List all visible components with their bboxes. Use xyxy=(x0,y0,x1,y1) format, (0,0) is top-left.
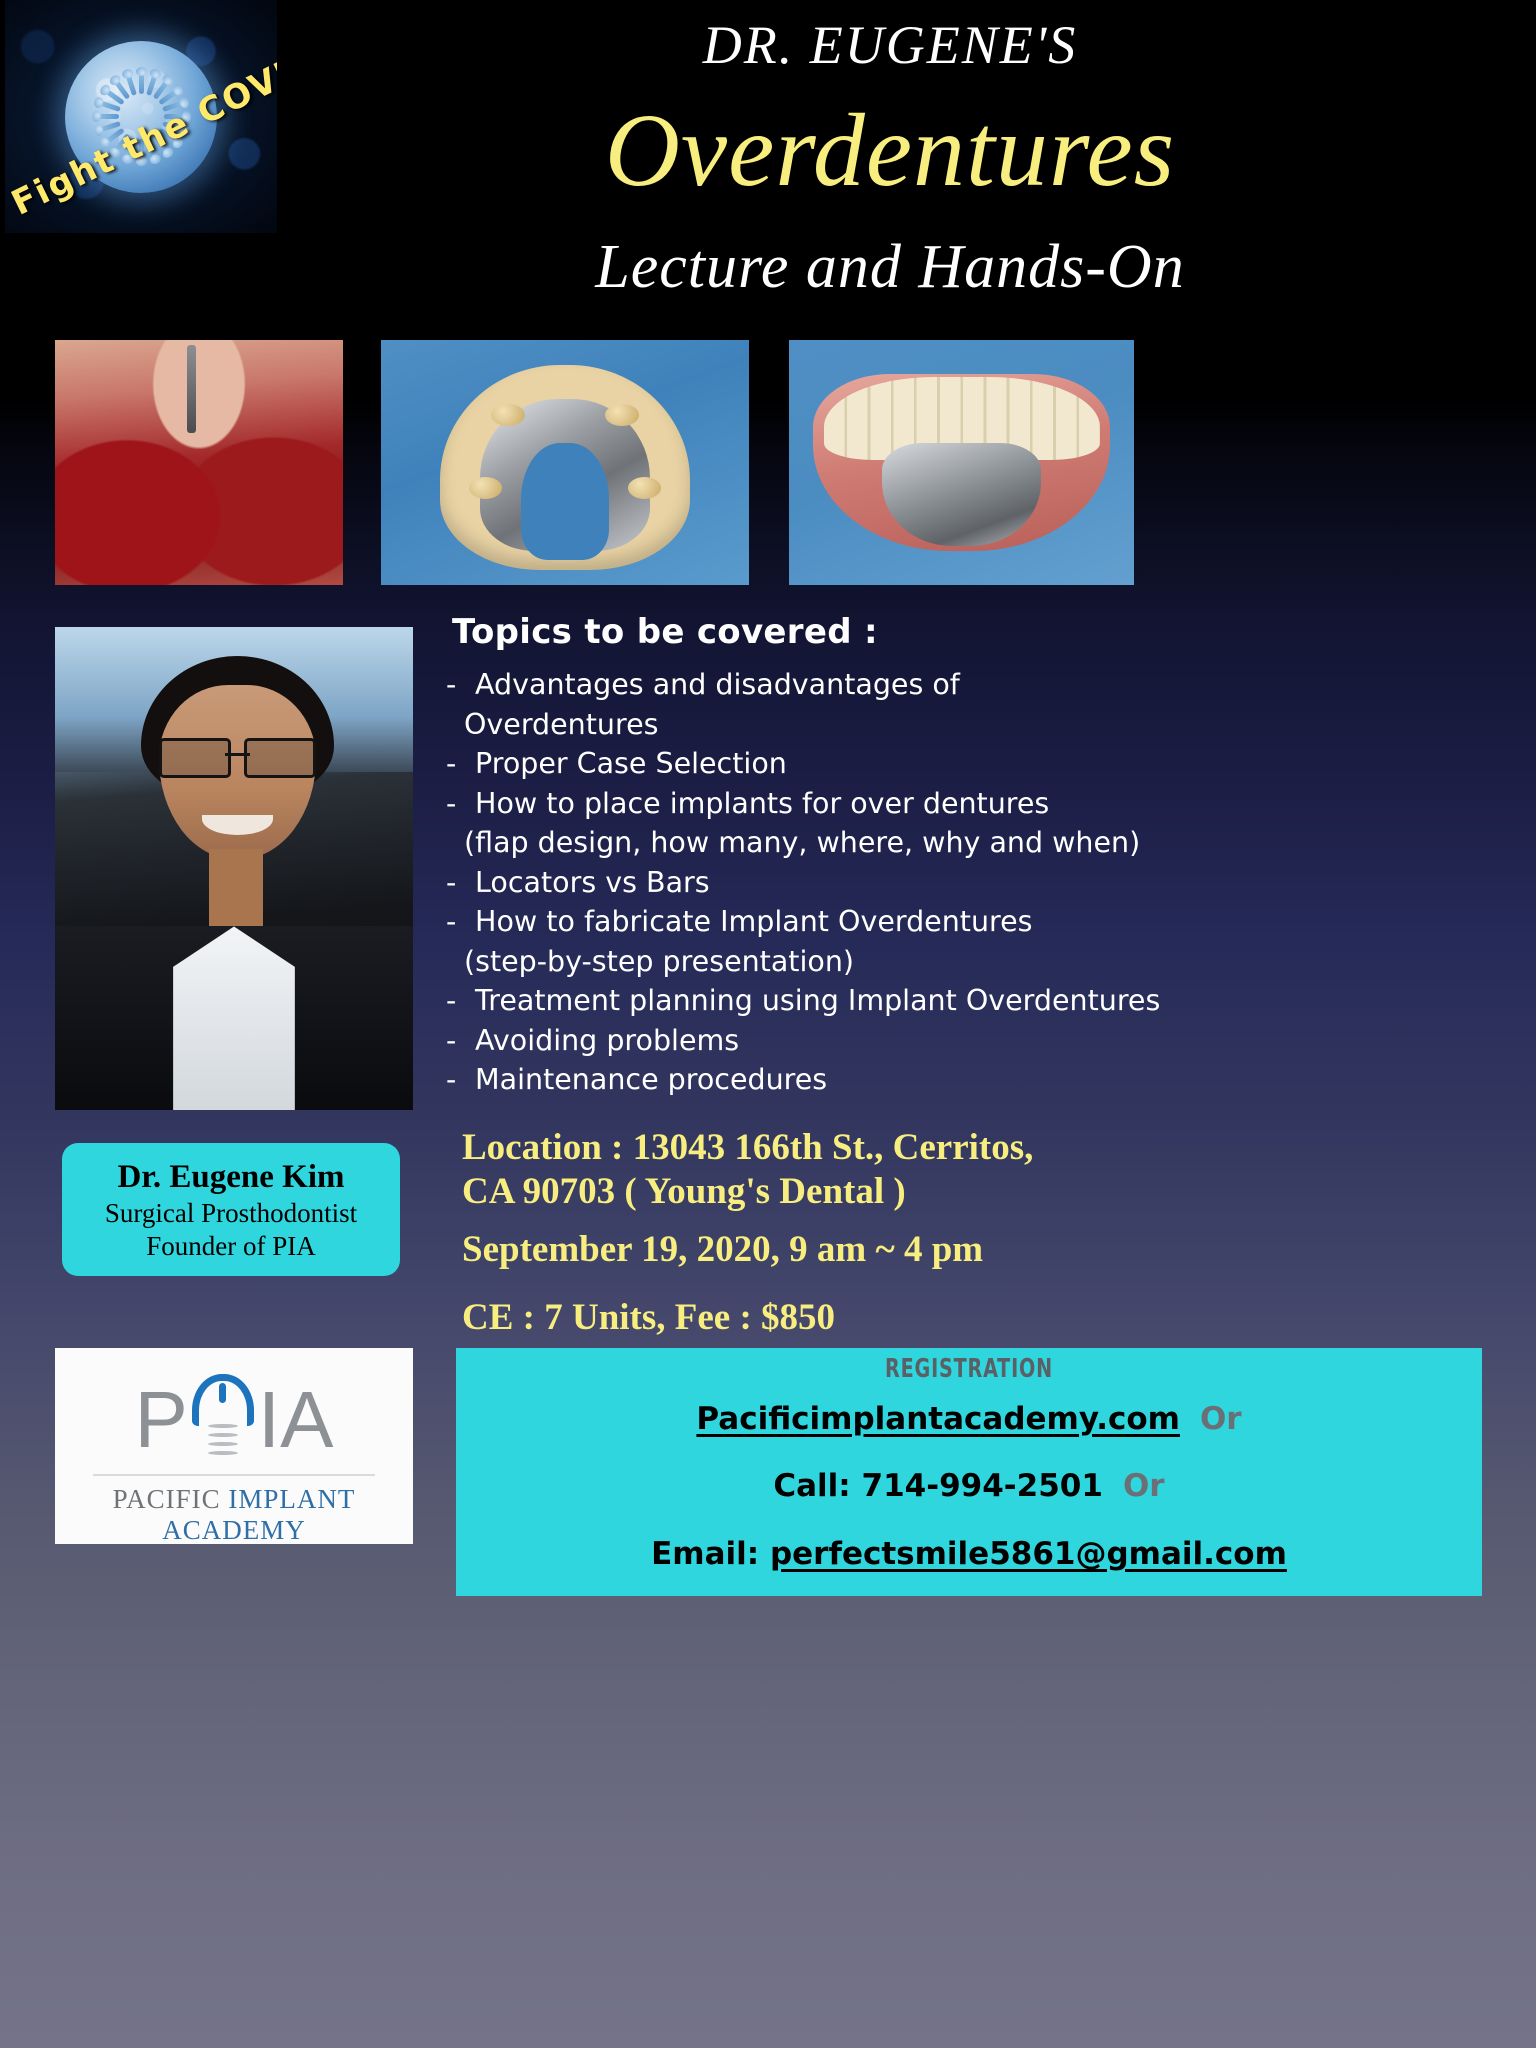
topic-item: - How to fabricate Implant Overdentures xyxy=(446,902,1146,942)
topic-bullet-dash: - xyxy=(446,744,466,784)
registration-email-line: Email: perfectsmile5861@gmail.com xyxy=(456,1536,1482,1572)
registration-email-link[interactable]: perfectsmile5861@gmail.com xyxy=(770,1536,1287,1572)
topic-text: Advantages and disadvantages of xyxy=(466,668,960,701)
location-line-2: CA 90703 ( Young's Dental ) xyxy=(462,1170,1152,1214)
pia-logo: P IA PACIFIC IMPLANT ACADEMY xyxy=(55,1348,413,1544)
topic-bullet-dash: - xyxy=(446,902,466,942)
logo-letters-ia: IA xyxy=(258,1380,334,1460)
or-separator-1: Or xyxy=(1180,1401,1242,1437)
topic-continuation-text: Overdentures xyxy=(446,705,658,745)
logo-letter-p: P xyxy=(135,1380,188,1460)
speaker-affiliation: Founder of PIA xyxy=(146,1230,316,1263)
ce-fee-info: CE : 7 Units, Fee : $850 xyxy=(462,1296,1152,1339)
logo-divider xyxy=(93,1474,375,1476)
topic-item: - Proper Case Selection xyxy=(446,744,1146,784)
topic-item: - Advantages and disadvantages of xyxy=(446,665,1146,705)
location-line-1: Location : 13043 166th St., Cerritos, xyxy=(462,1126,1152,1170)
topic-continuation-text: (step-by-step presentation) xyxy=(446,942,854,982)
location-info: Location : 13043 166th St., Cerritos, CA… xyxy=(462,1126,1152,1214)
topic-text: Locators vs Bars xyxy=(466,866,710,899)
topics-list: - Advantages and disadvantages ofOverden… xyxy=(446,665,1146,1100)
surgical-site-implants-photo xyxy=(55,340,343,585)
topics-heading: Topics to be covered : xyxy=(452,612,878,652)
title-subtitle: Lecture and Hands-On xyxy=(300,232,1480,303)
logo-wordmark: PACIFIC IMPLANT ACADEMY xyxy=(55,1484,413,1546)
topic-bullet-dash: - xyxy=(446,784,466,824)
tooth-implant-icon xyxy=(192,1374,254,1466)
eyeglasses-icon xyxy=(159,738,317,772)
registration-box: REGISTRATION Pacificimplantacademy.comOr… xyxy=(456,1348,1482,1596)
topic-bullet-dash: - xyxy=(446,981,466,1021)
topic-item: - Avoiding problems xyxy=(446,1021,1146,1061)
topic-bullet-dash: - xyxy=(446,1060,466,1100)
page-title: Overdentures xyxy=(300,96,1480,205)
topic-item: - How to place implants for over denture… xyxy=(446,784,1146,824)
covid-image: Fight the COVID!!! xyxy=(5,0,277,233)
topic-text: Treatment planning using Implant Overden… xyxy=(466,984,1160,1017)
speaker-role: Surgical Prosthodontist xyxy=(105,1197,357,1230)
email-label: Email: xyxy=(651,1536,770,1572)
topic-text: How to place implants for over dentures xyxy=(466,787,1049,820)
topic-continuation: Overdentures xyxy=(446,705,1146,745)
event-date: September 19, 2020, 9 am ~ 4 pm xyxy=(462,1228,1152,1271)
or-separator-2: Or xyxy=(1103,1468,1165,1504)
title-kicker: DR. EUGENE'S xyxy=(300,14,1480,76)
seminar-flyer: Fight the COVID!!! DR. EUGENE'S Overdent… xyxy=(0,0,1536,2048)
topic-continuation-text: (flap design, how many, where, why and w… xyxy=(446,823,1140,863)
implant-bar-framework-photo xyxy=(381,340,749,585)
topic-continuation: (flap design, how many, where, why and w… xyxy=(446,823,1146,863)
topic-text: Avoiding problems xyxy=(466,1024,739,1057)
topic-bullet-dash: - xyxy=(446,1021,466,1061)
speaker-badge: Dr. Eugene Kim Surgical Prosthodontist F… xyxy=(62,1143,400,1276)
topic-text: How to fabricate Implant Overdentures xyxy=(466,905,1032,938)
registration-phone[interactable]: Call: 714-994-2501 xyxy=(773,1468,1103,1504)
logo-wordmark-pacific: PACIFIC xyxy=(113,1484,229,1514)
registration-heading: REGISTRATION xyxy=(548,1354,1389,1384)
finished-overdenture-photo xyxy=(789,340,1134,585)
topic-bullet-dash: - xyxy=(446,665,466,705)
registration-website-line: Pacificimplantacademy.comOr xyxy=(456,1401,1482,1437)
dr-eugene-kim-portrait xyxy=(55,627,413,1110)
topic-text: Maintenance procedures xyxy=(466,1063,827,1096)
topic-text: Proper Case Selection xyxy=(466,747,787,780)
registration-website-link[interactable]: Pacificimplantacademy.com xyxy=(696,1401,1180,1437)
topic-item: - Maintenance procedures xyxy=(446,1060,1146,1100)
topic-continuation: (step-by-step presentation) xyxy=(446,942,1146,982)
topic-item: - Locators vs Bars xyxy=(446,863,1146,903)
topic-bullet-dash: - xyxy=(446,863,466,903)
topic-item: - Treatment planning using Implant Overd… xyxy=(446,981,1146,1021)
registration-phone-line: Call: 714-994-2501Or xyxy=(456,1468,1482,1504)
speaker-name: Dr. Eugene Kim xyxy=(117,1157,344,1197)
